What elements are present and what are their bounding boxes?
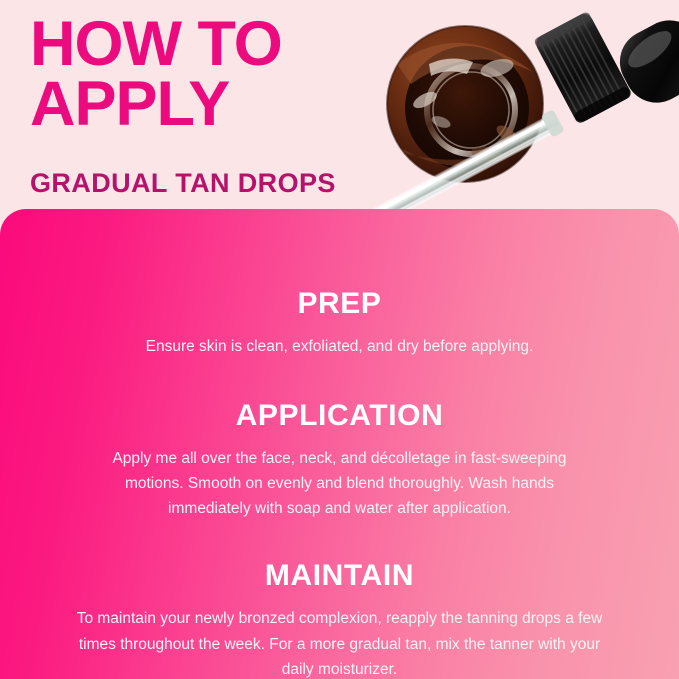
section-body: To maintain your newly bronzed complexio…	[70, 606, 610, 679]
dropper-bulb	[609, 9, 679, 114]
section-body: Ensure skin is clean, exfoliated, and dr…	[80, 334, 600, 359]
instructions-panel: PREP Ensure skin is clean, exfoliated, a…	[0, 209, 679, 679]
page-subtitle: GRADUAL TAN DROPS	[30, 168, 336, 199]
title-line-1: HOW TO	[30, 14, 390, 74]
section-application: APPLICATION Apply me all over the face, …	[58, 399, 621, 521]
dropper-cap	[533, 11, 633, 125]
bottle-body	[387, 26, 543, 182]
section-heading: APPLICATION	[58, 399, 621, 432]
header-banner: HOW TO APPLY GRADUAL TAN DROPS	[0, 0, 679, 215]
page-title: HOW TO APPLY	[30, 14, 390, 135]
product-photo	[355, 0, 679, 215]
section-body: Apply me all over the face, neck, and dé…	[85, 446, 595, 521]
title-line-2: APPLY	[30, 74, 390, 134]
section-heading: PREP	[58, 287, 621, 320]
section-maintain: MAINTAIN To maintain your newly bronzed …	[58, 559, 621, 679]
section-prep: PREP Ensure skin is clean, exfoliated, a…	[58, 287, 621, 359]
section-heading: MAINTAIN	[58, 559, 621, 592]
